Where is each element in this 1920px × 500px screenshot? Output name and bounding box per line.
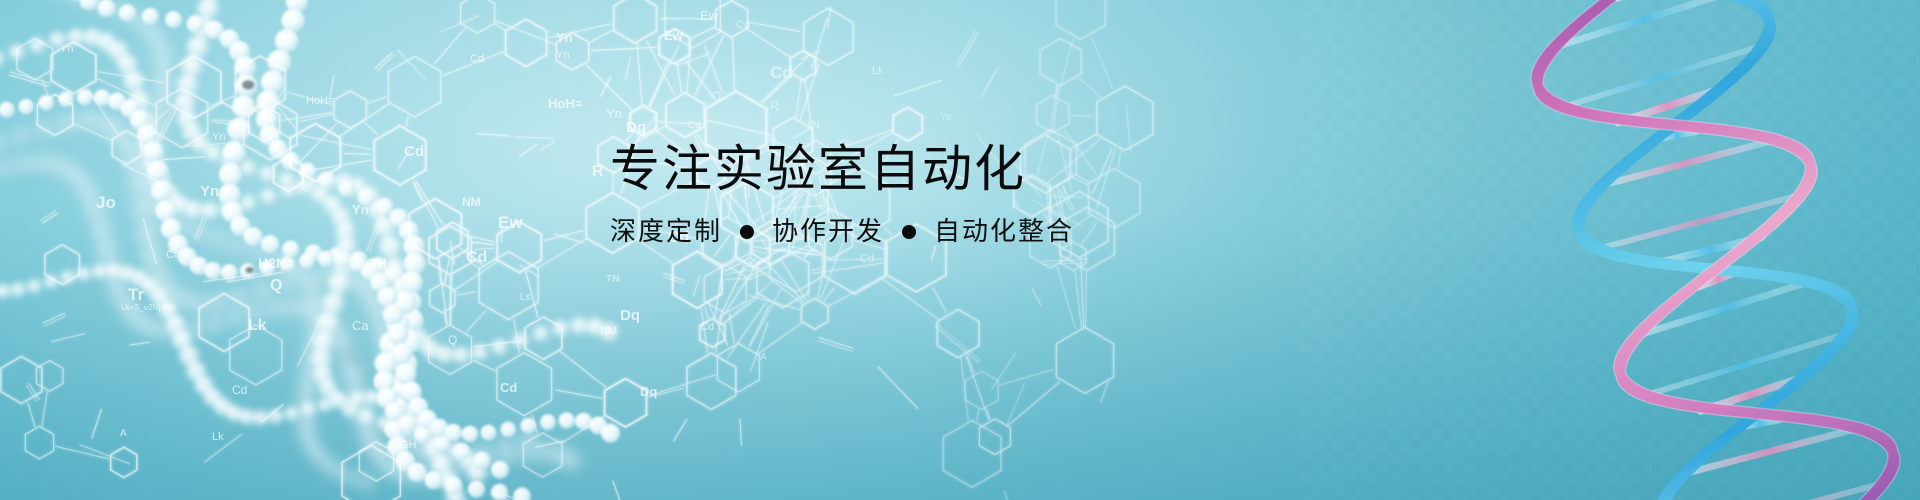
svg-text:Lk: Lk bbox=[872, 65, 884, 77]
svg-text:Cd: Cd bbox=[700, 321, 714, 333]
svg-text:Dq: Dq bbox=[620, 307, 640, 324]
svg-text:Lk: Lk bbox=[212, 431, 224, 443]
svg-text:Ca: Ca bbox=[166, 249, 181, 261]
svg-text:Cd: Cd bbox=[232, 383, 247, 397]
hero-banner: TrLkJoQCaH2N=GHYnYnLk+S_o2Nj-tRnEwCdCdRY… bbox=[0, 0, 1920, 500]
svg-text:Dq: Dq bbox=[640, 384, 657, 399]
svg-text:Yn: Yn bbox=[60, 43, 73, 55]
svg-text:GH: GH bbox=[366, 255, 387, 271]
svg-text:R: R bbox=[770, 99, 779, 113]
svg-text:Ew: Ew bbox=[700, 8, 719, 23]
bullet-dot-icon bbox=[902, 225, 916, 239]
svg-text:HoH=: HoH= bbox=[548, 96, 583, 111]
page-title: 专注实验室自动化 bbox=[610, 140, 1370, 199]
svg-text:Yp: Yp bbox=[940, 112, 952, 123]
svg-text:Tr: Tr bbox=[128, 285, 144, 304]
svg-text:R: R bbox=[592, 163, 604, 180]
svg-text:Cd: Cd bbox=[688, 120, 701, 131]
svg-text:Yn: Yn bbox=[352, 202, 369, 217]
svg-text:NM: NM bbox=[600, 325, 617, 337]
svg-text:Yn: Yn bbox=[212, 131, 225, 143]
svg-text:Yn: Yn bbox=[556, 30, 573, 45]
svg-text:A: A bbox=[120, 428, 127, 439]
svg-text:Yp: Yp bbox=[284, 241, 297, 253]
svg-text:Cd: Cd bbox=[860, 253, 874, 265]
svg-text:Cd: Cd bbox=[470, 53, 484, 65]
svg-text:Cd: Cd bbox=[770, 63, 793, 82]
svg-text:TN: TN bbox=[606, 274, 619, 285]
subtitle-item-1: 深度定制 bbox=[610, 215, 722, 249]
svg-text:TN: TN bbox=[806, 120, 819, 131]
svg-text:Cd: Cd bbox=[736, 19, 750, 31]
svg-text:O: O bbox=[712, 89, 721, 103]
subtitle-item-2: 协作开发 bbox=[772, 215, 884, 249]
svg-text:HoH=: HoH= bbox=[306, 95, 334, 107]
bullet-dot-icon bbox=[740, 225, 754, 239]
svg-text:Cd: Cd bbox=[466, 249, 487, 266]
svg-text:Dq: Dq bbox=[626, 119, 646, 136]
svg-text:Ca: Ca bbox=[352, 318, 369, 333]
svg-text:A: A bbox=[760, 352, 767, 363]
svg-text:NM: NM bbox=[462, 195, 481, 209]
svg-text:Ew: Ew bbox=[664, 28, 684, 43]
banner-copy: 专注实验室自动化 深度定制 协作开发 自动化整合 bbox=[610, 140, 1370, 249]
svg-text:Q: Q bbox=[448, 333, 457, 347]
svg-text:Ls: Ls bbox=[520, 292, 531, 303]
subtitle: 深度定制 协作开发 自动化整合 bbox=[610, 215, 1370, 249]
svg-text:Yn: Yn bbox=[200, 183, 219, 200]
svg-text:Jo: Jo bbox=[96, 193, 116, 212]
svg-text:H2N=: H2N= bbox=[258, 255, 294, 271]
svg-text:Cd: Cd bbox=[500, 380, 517, 395]
svg-text:Lk+S_o2Nj-tRn: Lk+S_o2Nj-tRn bbox=[121, 303, 175, 312]
svg-text:GH: GH bbox=[400, 439, 417, 451]
svg-text:Q: Q bbox=[270, 277, 282, 294]
svg-text:Yn: Yn bbox=[556, 49, 569, 61]
subtitle-item-3: 自动化整合 bbox=[934, 215, 1074, 249]
svg-text:Ew: Ew bbox=[498, 213, 523, 232]
svg-text:Lk: Lk bbox=[248, 317, 267, 334]
dna-double-helix bbox=[1480, 0, 1920, 500]
svg-text:Yn: Yn bbox=[606, 106, 622, 121]
svg-text:Cd: Cd bbox=[404, 143, 424, 160]
chemical-structure-overlay: TrLkJoQCaH2N=GHYnYnLk+S_o2Nj-tRnEwCdCdRY… bbox=[0, 0, 1180, 500]
